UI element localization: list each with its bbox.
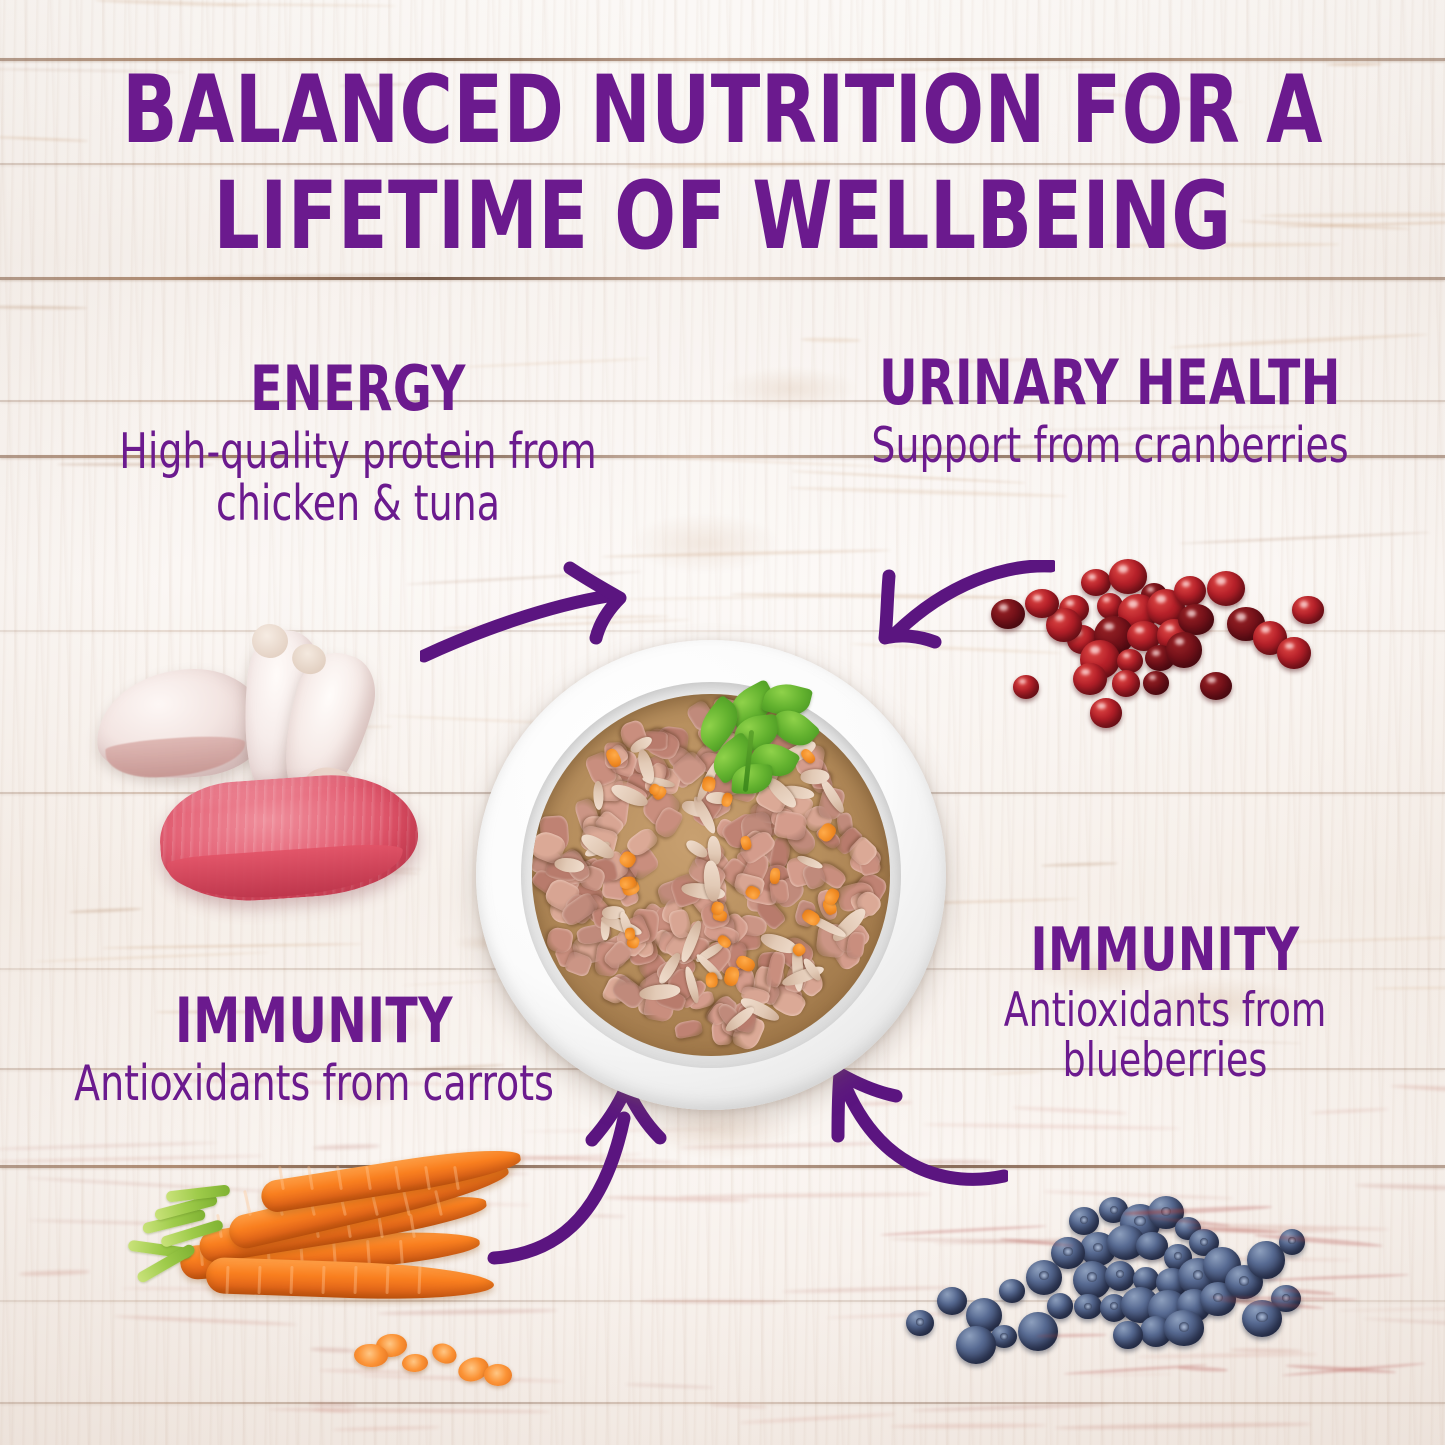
cranberry (1207, 571, 1246, 606)
cranberry-highlight (1165, 625, 1174, 632)
blueberry (1047, 1293, 1074, 1319)
cranberry (1277, 637, 1310, 669)
blueberry-calyx (1174, 1252, 1182, 1259)
cranberry (1090, 698, 1123, 728)
benefit-immunity-blueberries-title: IMMUNITY (944, 920, 1386, 980)
cranberry (1025, 589, 1058, 618)
cranberry (1073, 663, 1106, 695)
blueberry-calyx (1110, 1302, 1118, 1309)
carrot-piece (624, 927, 635, 939)
cranberries-image (978, 548, 1348, 748)
cranberry (1174, 576, 1206, 606)
carrot-ridge (243, 1190, 252, 1216)
cranberry (991, 599, 1025, 629)
blueberry (937, 1287, 967, 1315)
food-chunk (674, 1018, 703, 1039)
cranberry (1013, 675, 1039, 699)
benefit-urinary-health: URINARY HEALTH Support from cranberries (790, 352, 1430, 472)
blueberry-calyx (1084, 1303, 1092, 1310)
cranberry-highlight (1156, 595, 1166, 603)
blueberries-image (888, 1196, 1338, 1391)
benefit-energy-title: ENERGY (86, 358, 630, 420)
cranberry-highlight (1119, 674, 1126, 680)
cranberry (1143, 671, 1169, 695)
blueberry (999, 1279, 1026, 1303)
blueberry-calyx (1116, 1270, 1124, 1278)
cranberry-highlight (1216, 577, 1226, 585)
carrot-slice (484, 1364, 513, 1387)
benefit-urinary-desc: Support from cranberries (835, 420, 1385, 472)
benefit-immunity-blueberries-desc-line1: Antioxidants from (941, 986, 1388, 1036)
chicken-and-tuna-image (92, 618, 422, 938)
cranberry-highlight (1152, 650, 1160, 656)
cranberry-highlight (1236, 613, 1246, 620)
cranberry-highlight (1055, 614, 1064, 621)
blueberry-calyx (1134, 1216, 1145, 1226)
cranberry (1081, 569, 1112, 596)
berry-stain-streak (1064, 1364, 1206, 1376)
carrots-image (140, 1158, 530, 1428)
carrot-piece (705, 972, 718, 988)
page-title-line-2: LIFETIME OF WELLBEING (101, 172, 1344, 261)
benefit-energy-desc-line2: chicken & tuna (83, 478, 633, 530)
blueberry (1018, 1312, 1057, 1351)
benefit-energy: ENERGY High-quality protein from chicken… (38, 358, 678, 530)
berry-stain-streak (880, 1224, 1047, 1236)
benefit-immunity-carrots-title: IMMUNITY (42, 990, 586, 1052)
cranberry-highlight (1175, 638, 1184, 645)
carrot-slice (429, 1340, 459, 1367)
cranberry (1117, 649, 1143, 673)
blueberry-calyx (916, 1318, 924, 1325)
blueberry (1136, 1232, 1167, 1260)
blueberry-calyx (1110, 1206, 1118, 1214)
cranberry (1178, 604, 1215, 635)
page-title-line-1: BALANCED NUTRITION FOR A (101, 66, 1344, 155)
blueberry-calyx (1080, 1216, 1088, 1224)
benefit-immunity-blueberries-desc-line2: blueberries (941, 1036, 1388, 1086)
blueberry-calyx (1000, 1333, 1007, 1340)
cranberry-highlight (1088, 574, 1096, 580)
cranberry (1292, 596, 1323, 623)
cranberry (1112, 670, 1141, 697)
cranberry-highlight (1118, 565, 1128, 573)
cranberry (1200, 672, 1233, 701)
carrot-slice (402, 1353, 429, 1372)
nutrition-infographic: BALANCED NUTRITION FOR A LIFETIME OF WEL… (0, 0, 1445, 1445)
cranberry-highlight (1300, 601, 1308, 607)
blueberry-calyx (1063, 1247, 1072, 1256)
cranberry (1166, 632, 1201, 667)
benefit-immunity-carrots-desc: Antioxidants from carrots (39, 1058, 589, 1110)
blueberry-calyx (1256, 1312, 1267, 1322)
blueberry (956, 1326, 996, 1364)
parsley-garnish (676, 682, 826, 802)
benefit-urinary-title: URINARY HEALTH (838, 352, 1382, 414)
benefit-immunity-blueberries: IMMUNITY Antioxidants from blueberries (905, 920, 1425, 1086)
cranberry-highlight (1066, 600, 1074, 606)
benefit-energy-desc-line1: High-quality protein from (83, 426, 633, 478)
carrot (205, 1257, 494, 1303)
cranberry-highlight (1187, 610, 1196, 617)
food-bowl (476, 640, 946, 1110)
blueberry (1113, 1321, 1142, 1349)
blueberry-calyx (1200, 1238, 1209, 1246)
